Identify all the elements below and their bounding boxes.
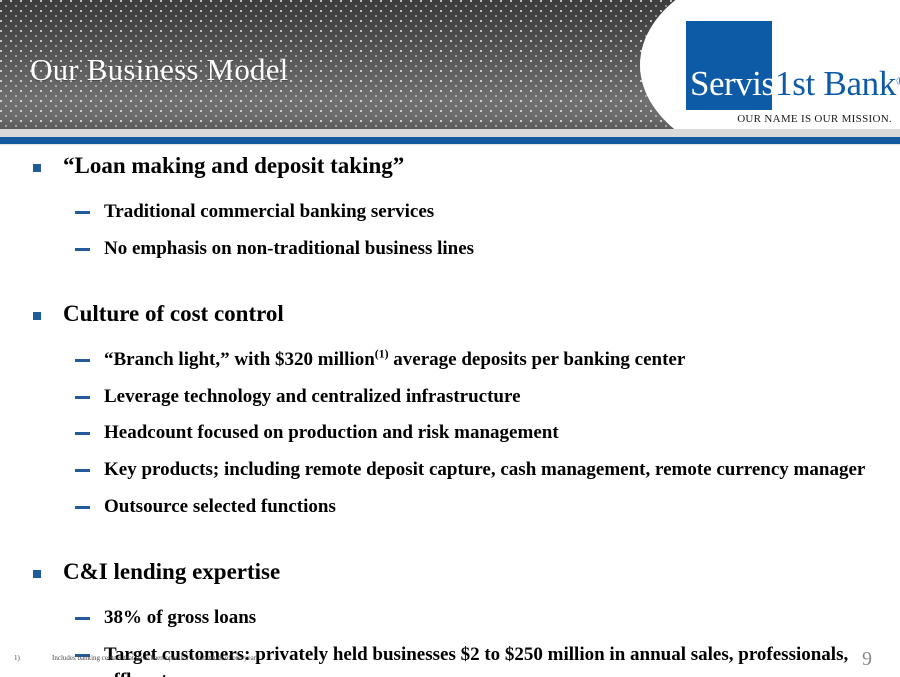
bullet-level2-label: Leverage technology and centralized infr… (104, 384, 521, 410)
bullet-level2: Key products; including remote deposit c… (0, 457, 900, 483)
spacer (0, 586, 900, 605)
footnote-text: Includes banking centers that have been … (52, 654, 256, 662)
dash-bullet-icon (75, 617, 90, 620)
spacer (0, 373, 900, 384)
bullet-level1: Culture of cost control (0, 300, 900, 328)
bullet-level2-label: Traditional commercial banking services (104, 199, 434, 225)
square-bullet-icon (33, 164, 41, 172)
bullet-level2: Headcount focused on production and risk… (0, 420, 900, 446)
bullet-level1: C&I lending expertise (0, 558, 900, 586)
footnote-marker: (1) (375, 347, 389, 360)
spacer (0, 483, 900, 494)
brand-logo: Servis 1st Bank® OUR NAME IS OUR MISSION… (676, 18, 892, 134)
footnote: 1) Includes banking centers that have be… (14, 654, 256, 662)
bullet-level2: Traditional commercial banking services (0, 199, 900, 225)
bullet-level2-label: Key products; including remote deposit c… (104, 457, 865, 483)
logo-name-text: 1st Bank® (775, 66, 900, 101)
header-divider-blue (0, 137, 900, 144)
bullet-text-part2: average deposits per banking center (389, 349, 686, 370)
spacer (0, 328, 900, 347)
bullet-level1-label: Culture of cost control (63, 300, 284, 328)
spacer (0, 520, 900, 558)
bullet-level2: 38% of gross loans (0, 605, 900, 631)
dash-bullet-icon (75, 469, 90, 472)
spacer (0, 409, 900, 420)
dash-bullet-icon (75, 506, 90, 509)
dash-bullet-icon (75, 432, 90, 435)
bullet-level2-label: No emphasis on non-traditional business … (104, 236, 474, 262)
slide: Our Business Model Servis 1st Bank® OUR … (0, 0, 900, 677)
bullet-level1-label: C&I lending expertise (63, 558, 280, 586)
registered-trademark-icon: ® (896, 74, 900, 88)
bullet-level2-label: Outsource selected functions (104, 494, 336, 520)
spacer (0, 180, 900, 199)
slide-body: “Loan making and deposit taking” Traditi… (0, 152, 900, 677)
page-number: 9 (862, 648, 872, 671)
square-bullet-icon (33, 312, 41, 320)
bullet-level2-label: 38% of gross loans (104, 605, 256, 631)
bullet-level2: Leverage technology and centralized infr… (0, 384, 900, 410)
bullet-level2-label: “Branch light,” with $320 million(1) ave… (104, 347, 685, 373)
spacer (0, 446, 900, 457)
bullet-level1: “Loan making and deposit taking” (0, 152, 900, 180)
logo-servis-text: Servis (690, 66, 775, 101)
spacer (0, 631, 900, 642)
square-bullet-icon (33, 570, 41, 578)
dash-bullet-icon (75, 211, 90, 214)
dash-bullet-icon (75, 359, 90, 362)
bullet-level2: No emphasis on non-traditional business … (0, 236, 900, 262)
dash-bullet-icon (75, 248, 90, 251)
spacer (0, 225, 900, 236)
header-divider-shadow (0, 144, 900, 146)
page-title: Our Business Model (30, 52, 289, 88)
footnote-number: 1) (14, 654, 52, 662)
bullet-level2: Outsource selected functions (0, 494, 900, 520)
logo-1st-bank-text: 1st Bank (775, 64, 896, 103)
spacer (0, 262, 900, 300)
bullet-text-part1: “Branch light,” with $320 million (104, 349, 375, 370)
bullet-level1-label: “Loan making and deposit taking” (63, 152, 404, 180)
bullet-level2-label: Headcount focused on production and risk… (104, 420, 559, 446)
bullet-level2: “Branch light,” with $320 million(1) ave… (0, 347, 900, 373)
logo-tagline: OUR NAME IS OUR MISSION. (676, 113, 892, 125)
dash-bullet-icon (75, 396, 90, 399)
